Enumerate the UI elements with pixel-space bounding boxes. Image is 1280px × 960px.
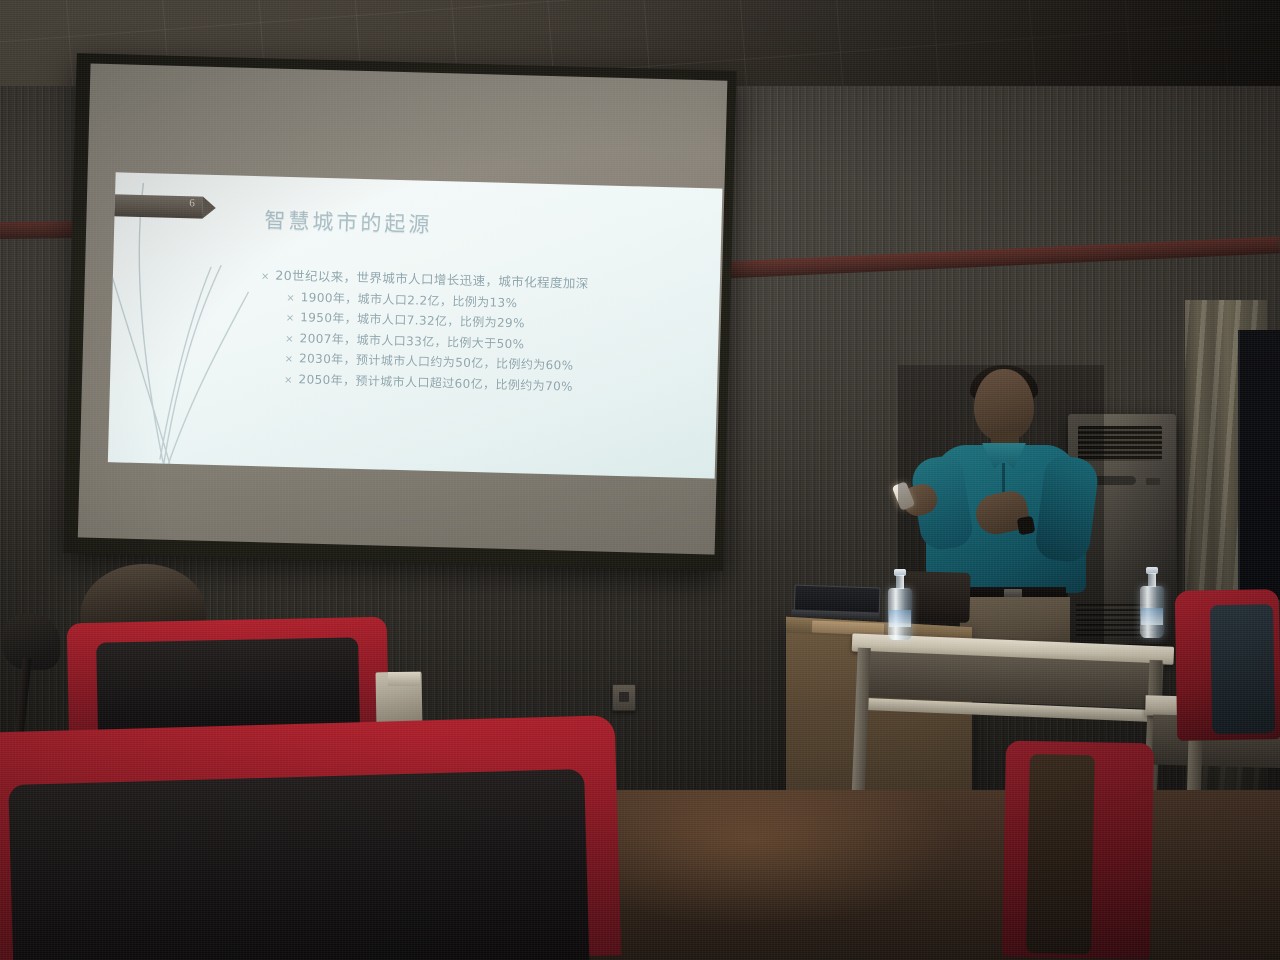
- screen-surface: 6 智慧城市的起源 × 20世纪以来，世界城市人口增长迅速，城市化程度加深 × …: [78, 64, 728, 555]
- bullet-text: 2050年，预计城市人口超过60亿，比例约为70%: [298, 370, 573, 394]
- bullet-marker-icon: ×: [284, 374, 293, 385]
- auditorium-seat[interactable]: [1175, 589, 1280, 741]
- seat-side-table-top: [388, 672, 420, 686]
- bottle-label: [889, 610, 911, 627]
- equipment-stand: [0, 614, 64, 744]
- bottle-neck: [1148, 573, 1156, 587]
- slide-page-number: 6: [189, 197, 195, 209]
- laptop-computer[interactable]: [791, 584, 880, 621]
- display-panel: [1238, 330, 1280, 600]
- seat-backrest: [1026, 754, 1095, 954]
- bullet-text: 2007年，城市人口33亿，比例大于50%: [299, 329, 524, 352]
- bullet-marker-icon: ×: [261, 271, 270, 282]
- floor-light-spot: [560, 790, 1040, 960]
- projection-screen: 6 智慧城市的起源 × 20世纪以来，世界城市人口增长迅速，城市化程度加深 × …: [63, 53, 736, 571]
- auditorium-seat[interactable]: [1002, 741, 1154, 960]
- water-bottle[interactable]: [1140, 586, 1164, 638]
- bullet-marker-icon: ×: [285, 354, 294, 365]
- bullet-marker-icon: ×: [285, 333, 294, 344]
- auditorium-seat-foreground[interactable]: [0, 715, 621, 960]
- slide-title: 智慧城市的起源: [264, 204, 433, 239]
- slide-bullet-list: × 20世纪以来，世界城市人口增长迅速，城市化程度加深 × 1900年，城市人口…: [258, 264, 710, 401]
- bullet-marker-icon: ×: [286, 292, 295, 303]
- water-bottle[interactable]: [888, 588, 912, 640]
- lecture-hall-scene: 6 智慧城市的起源 × 20世纪以来，世界城市人口增长迅速，城市化程度加深 × …: [0, 0, 1280, 960]
- seat-backrest: [8, 769, 589, 960]
- slide-number-ribbon: 6: [108, 194, 203, 219]
- presentation-slide: 6 智慧城市的起源 × 20世纪以来，世界城市人口增长迅速，城市化程度加深 × …: [108, 172, 723, 478]
- bullet-marker-icon: ×: [286, 313, 295, 324]
- power-socket-icon: [612, 684, 636, 711]
- seat-backrest: [1210, 604, 1275, 734]
- bullet-text: 1950年，城市人口7.32亿，比例为29%: [300, 308, 525, 331]
- bottle-label: [1141, 608, 1163, 625]
- bullet-text: 1900年，城市人口2.2亿，比例为13%: [301, 288, 518, 311]
- bottle-neck: [896, 575, 904, 589]
